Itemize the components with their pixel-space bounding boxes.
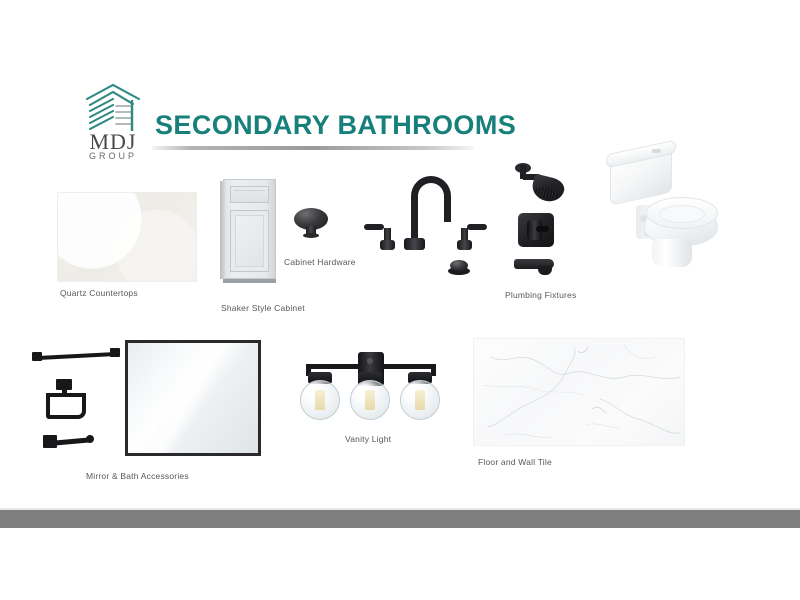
shower-valve-trim xyxy=(518,213,554,247)
bath-accessories-image xyxy=(30,343,122,455)
floor-and-wall-tile-swatch xyxy=(473,338,685,446)
faucet-spout-tip xyxy=(444,206,451,222)
faucet-spout-base xyxy=(404,238,425,250)
toilet-image xyxy=(600,145,728,270)
mdj-group-logo: MDJ GROUP xyxy=(77,83,149,167)
faucet-spout-column xyxy=(411,206,418,242)
floor-and-wall-tile-label: Floor and Wall Tile xyxy=(478,457,552,467)
vanity-light-label: Vanity Light xyxy=(345,434,391,444)
vanity-light-image xyxy=(296,348,444,426)
faucet-spout-arc xyxy=(411,176,451,210)
shaker-style-cabinet-label: Shaker Style Cabinet xyxy=(221,303,305,313)
faucet-drain-stopper xyxy=(448,260,470,276)
quartz-countertops-swatch xyxy=(57,192,197,282)
page-title: SECONDARY BATHROOMS xyxy=(155,110,516,141)
bathroom-mirror-image xyxy=(125,340,261,456)
shower-head-icon xyxy=(530,173,567,204)
vanity-light-globe-2 xyxy=(350,372,390,428)
towel-ring-icon xyxy=(46,379,90,419)
vanity-light-globe-1 xyxy=(300,372,340,428)
toilet-base xyxy=(652,239,692,267)
cabinet-side-panel xyxy=(220,181,225,279)
footer-bar xyxy=(0,510,800,528)
mirror-reflection xyxy=(128,343,258,453)
toilet-seat xyxy=(646,197,718,229)
cabinet-base xyxy=(223,279,276,283)
slide-canvas: MDJ GROUP SECONDARY BATHROOMS Quartz Cou… xyxy=(0,0,800,510)
building-lines-icon xyxy=(83,83,143,133)
shaker-style-cabinet-image xyxy=(220,179,276,283)
knob-base xyxy=(303,233,319,238)
vanity-light-backplate-screw xyxy=(367,358,373,364)
faucet-handle-right xyxy=(457,220,472,250)
toilet-paper-holder-icon xyxy=(43,435,99,451)
plumbing-fixtures-label: Plumbing Fixtures xyxy=(505,290,576,300)
toilet-flush-lever xyxy=(652,149,661,153)
title-underline-rule xyxy=(152,146,474,150)
tile-veining xyxy=(474,339,685,446)
cabinet-drawer xyxy=(230,186,269,203)
shower-trim-set-image xyxy=(508,163,568,278)
mirror-bath-accessories-label: Mirror & Bath Accessories xyxy=(86,471,189,481)
vanity-light-globe-3 xyxy=(400,372,440,428)
logo-secondary-text: GROUP xyxy=(77,151,149,161)
page-below-area xyxy=(0,528,800,600)
cabinet-door xyxy=(230,210,269,272)
tub-spout xyxy=(514,259,554,275)
cabinet-hardware-label: Cabinet Hardware xyxy=(284,257,356,267)
faucet-handle-left xyxy=(380,220,395,250)
widespread-faucet-image xyxy=(380,176,485,276)
cabinet-hardware-knob-image xyxy=(294,208,328,244)
quartz-countertops-label: Quartz Countertops xyxy=(60,288,138,298)
towel-bar-icon xyxy=(32,351,118,361)
